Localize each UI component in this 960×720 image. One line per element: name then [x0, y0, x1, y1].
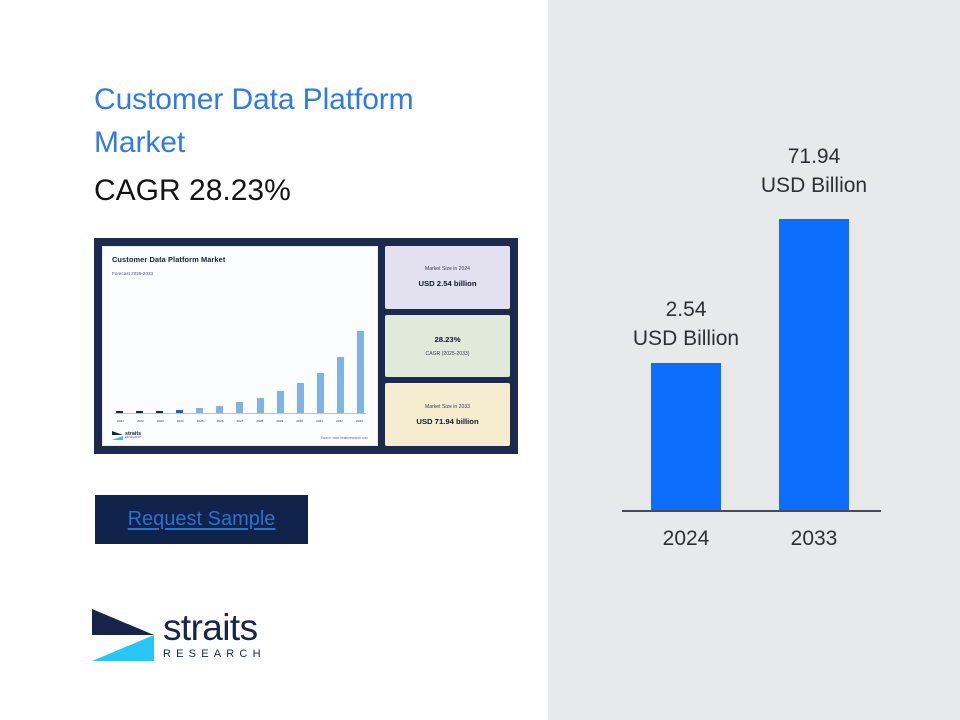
stat-label: Market Size in 2024: [425, 266, 470, 272]
bar-2024: [651, 363, 721, 510]
mini-bar-year-label: 2029: [275, 419, 284, 423]
mini-bar-chart: 2021202220232024202520262027202820292030…: [112, 279, 368, 426]
mini-chart-panel: Customer Data Platform Market Forecast 2…: [102, 246, 378, 446]
mini-bar-year-label: 2033: [355, 419, 364, 423]
mini-chart-footer: straits RESEARCH Source: www.straitsrese…: [112, 426, 368, 440]
page-title-line2: Market: [94, 126, 185, 159]
bar-2033: [779, 219, 849, 510]
mini-bar-year-label: 2022: [136, 419, 145, 423]
mini-bar-year-label: 2031: [315, 419, 324, 423]
bar-value-2033: 71.94: [788, 145, 841, 168]
request-sample-label: Request Sample: [128, 508, 276, 531]
mini-bar-year-label: 2023: [156, 419, 165, 423]
bar-x-label-2024: 2024: [628, 527, 744, 551]
straits-arrow-icon: [112, 431, 123, 440]
mini-bar-year-label: 2027: [235, 419, 244, 423]
mini-bar-year-label: 2028: [255, 419, 264, 423]
bar-unit-2024: USD Billion: [633, 327, 739, 350]
request-sample-button[interactable]: Request Sample: [95, 495, 308, 544]
mini-chart-source: Source: www.straitsresearch.com: [321, 436, 368, 440]
mini-bar-year-label: 2032: [335, 419, 344, 423]
mini-bar: [297, 383, 304, 413]
bar-x-label-2033: 2033: [756, 527, 872, 551]
straits-research-logo: straits RESEARCH: [92, 607, 266, 663]
bar-value-2024: 2.54: [666, 298, 707, 321]
stat-card-market-size-2033: Market Size in 2033 USD 71.94 billion: [385, 383, 510, 446]
mini-chart-x-labels: 2021202220232024202520262027202820292030…: [116, 419, 364, 423]
straits-arrow-icon: [92, 607, 154, 663]
mini-logo-subtitle: RESEARCH: [125, 437, 142, 439]
mini-bar-year-label: 2030: [295, 419, 304, 423]
stat-cards-column: Market Size in 2024 USD 2.54 billion 28.…: [385, 246, 510, 446]
stat-label: Market Size in 2033: [425, 404, 470, 410]
stat-card-market-size-2024: Market Size in 2024 USD 2.54 billion: [385, 246, 510, 309]
bar-value-label-2033: 71.94 USD Billion: [756, 142, 872, 200]
chart-baseline-axis: [622, 510, 881, 512]
mini-straits-logo: straits RESEARCH: [112, 431, 142, 440]
bar-value-label-2024: 2.54 USD Billion: [628, 295, 744, 353]
infographic-card: Customer Data Platform Market Forecast 2…: [94, 238, 518, 454]
stat-value: 28.23%: [434, 335, 460, 344]
mini-bar: [257, 398, 264, 413]
main-bar-chart: 71.94 USD Billion 2.54 USD Billion 2024 …: [548, 0, 960, 720]
mini-bar: [236, 402, 243, 413]
stat-value: USD 2.54 billion: [418, 279, 476, 288]
stat-label: CAGR (2025-2033): [426, 351, 470, 357]
page-title-line1: Customer Data Platform: [94, 83, 414, 116]
mini-bar: [337, 357, 344, 413]
mini-bar-series: [116, 329, 364, 413]
headline-block: Customer Data Platform Market CAGR 28.23…: [94, 78, 514, 210]
brand-name: straits: [163, 609, 266, 646]
stat-value: USD 71.94 billion: [416, 417, 478, 426]
mini-bar: [317, 373, 324, 413]
mini-bar: [277, 391, 284, 413]
brand-subtitle: RESEARCH: [163, 649, 266, 660]
mini-chart-axis: [114, 413, 366, 414]
mini-chart-subtitle: Forecast 2025-2033: [112, 271, 368, 276]
cagr-headline: CAGR 28.23%: [94, 172, 514, 210]
page-title: Customer Data Platform Market: [94, 78, 514, 164]
mini-chart-title: Customer Data Platform Market: [112, 255, 368, 264]
stat-card-cagr: 28.23% CAGR (2025-2033): [385, 315, 510, 378]
slide-root: Customer Data Platform Market CAGR 28.23…: [0, 0, 960, 720]
mini-bar-year-label: 2021: [116, 419, 125, 423]
mini-bar: [357, 331, 364, 413]
mini-bar-year-label: 2026: [216, 419, 225, 423]
bar-unit-2033: USD Billion: [761, 174, 867, 197]
mini-bar-year-label: 2024: [176, 419, 185, 423]
mini-bar-year-label: 2025: [196, 419, 205, 423]
